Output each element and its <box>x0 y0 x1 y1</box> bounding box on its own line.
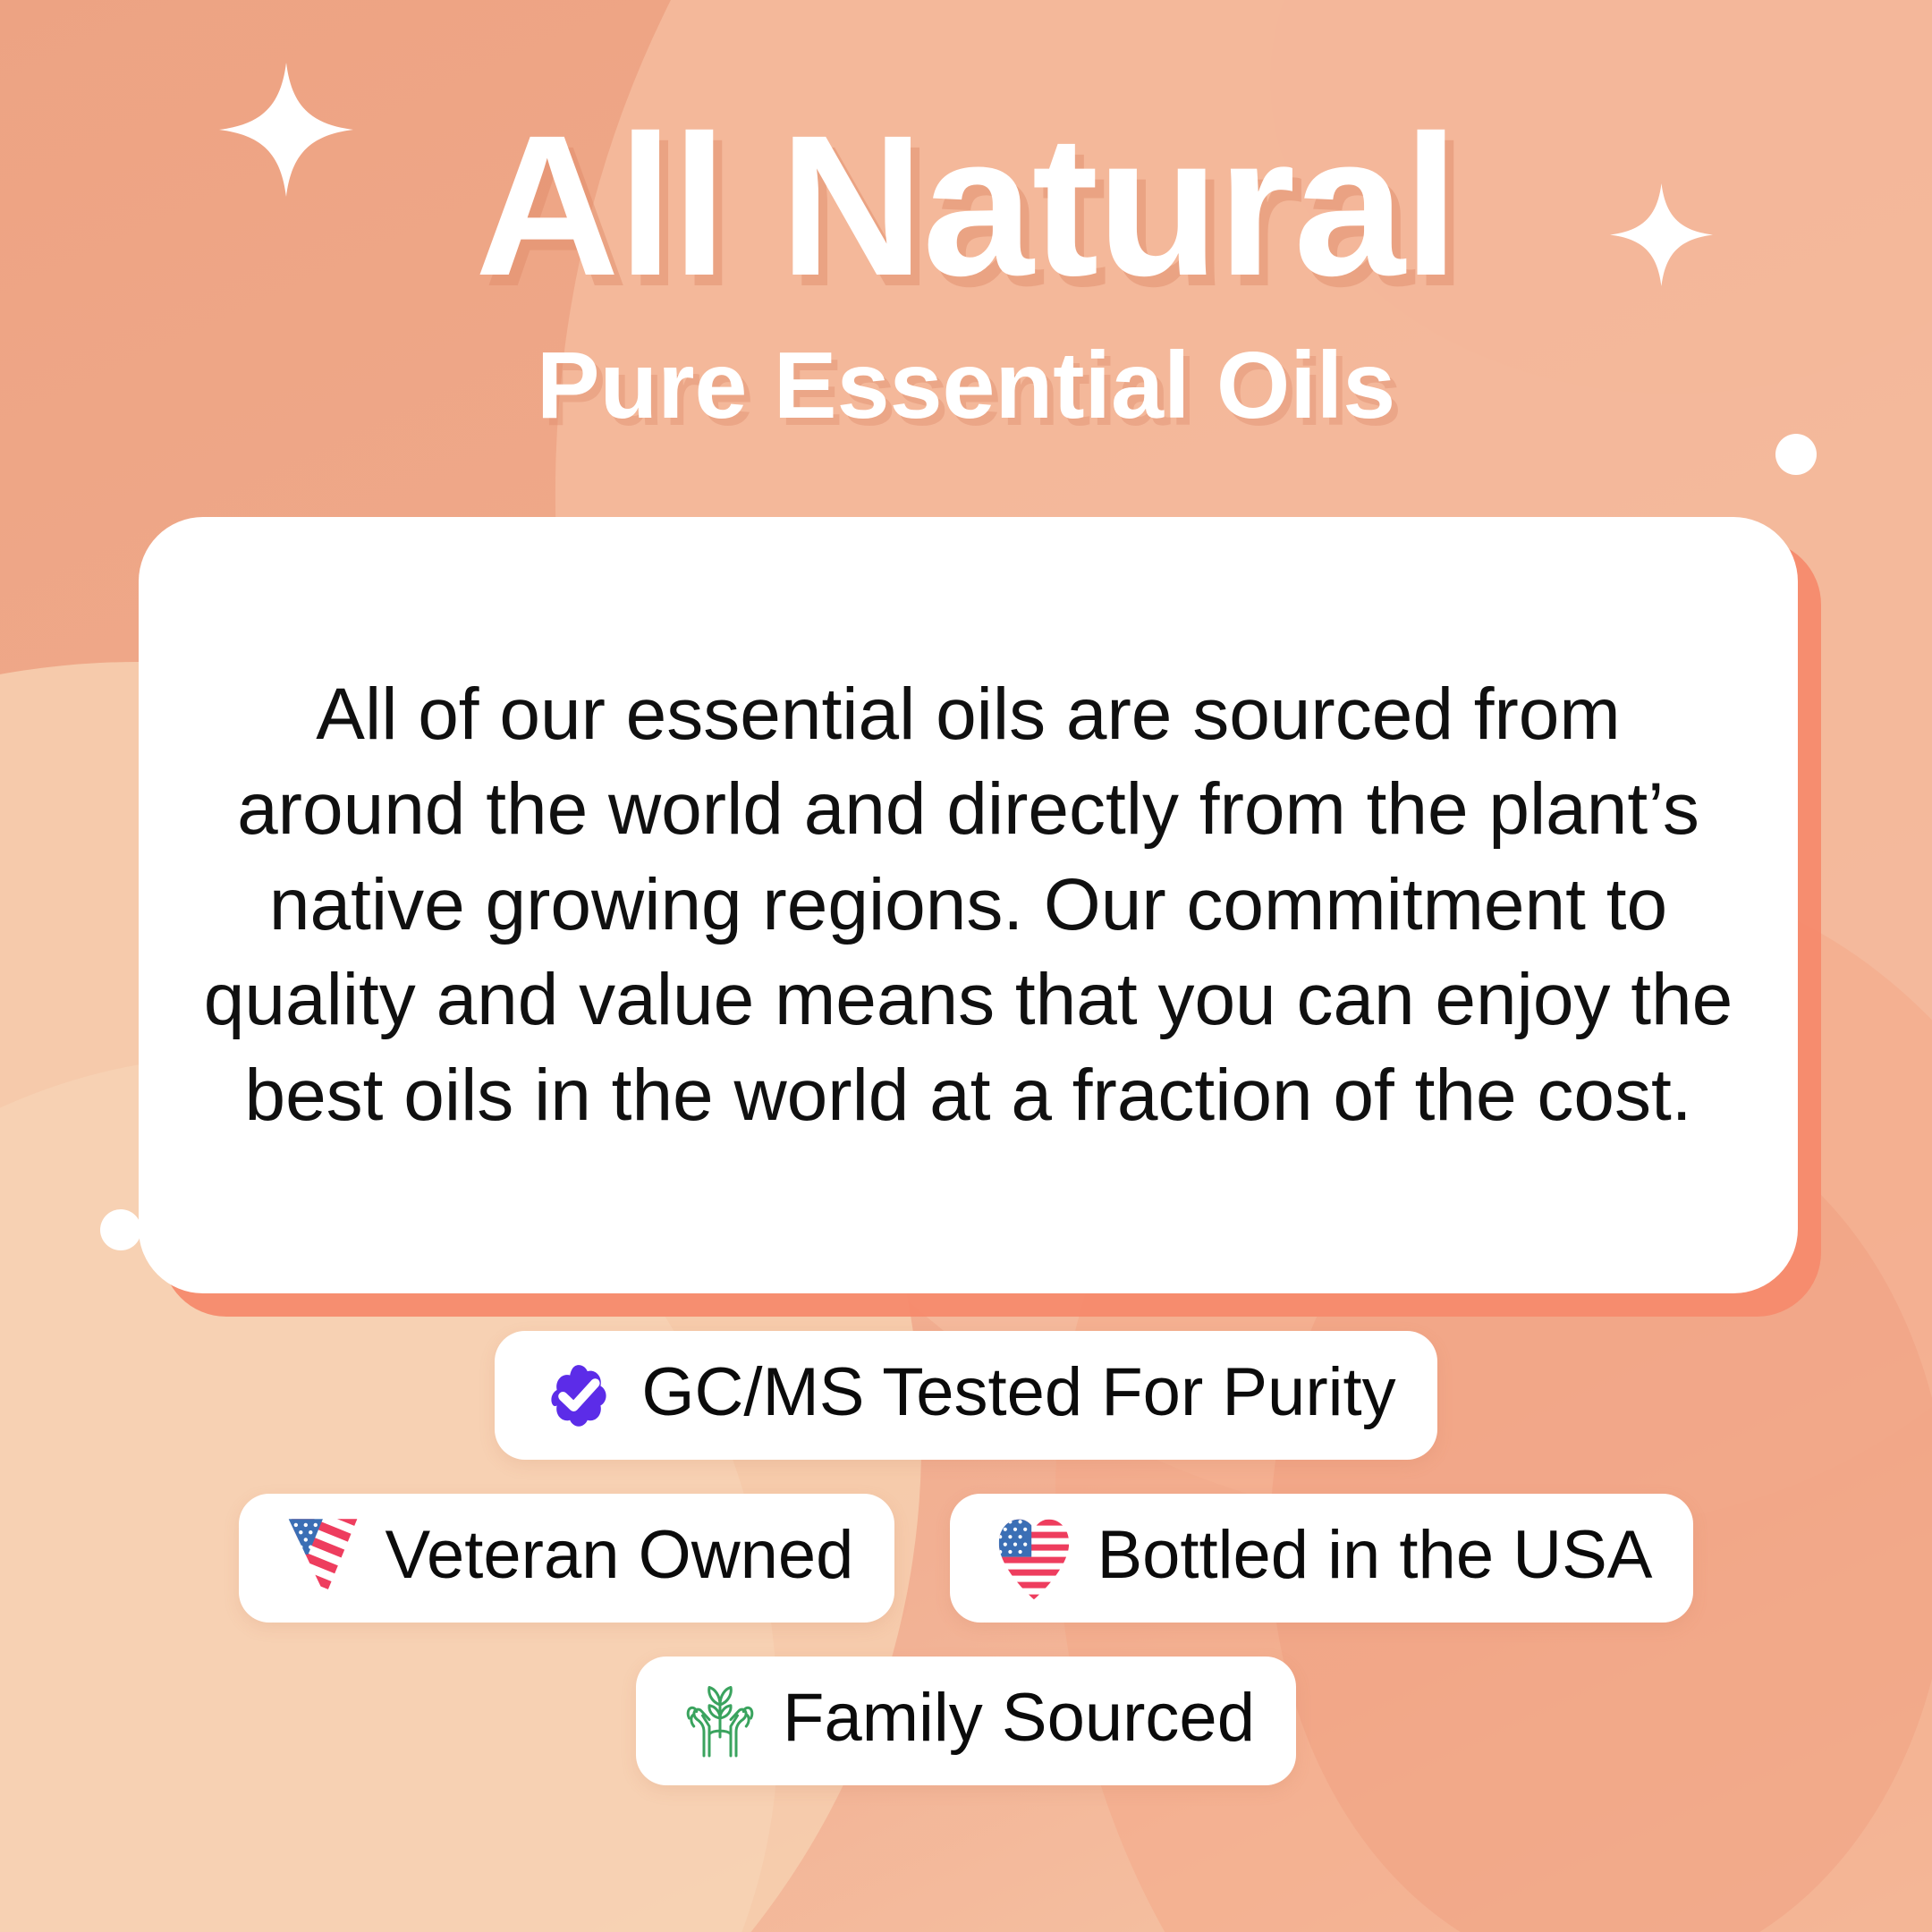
usa-flag-heart-icon <box>991 1515 1077 1601</box>
description-card-wrapper: All of our essential oils are sourced fr… <box>139 517 1798 1293</box>
badge-label: Family Sourced <box>783 1684 1255 1758</box>
badge-label: Bottled in the USA <box>1097 1521 1652 1595</box>
badge-gcms-tested[interactable]: GC/MS Tested For Purity <box>495 1331 1436 1460</box>
badge-group: GC/MS Tested For Purity <box>0 1331 1932 1785</box>
badge-veteran-owned[interactable]: Veteran Owned <box>239 1494 895 1623</box>
badge-label: Veteran Owned <box>386 1521 854 1595</box>
badge-family-sourced[interactable]: Family Sourced <box>636 1657 1296 1785</box>
decorative-dot-top-right <box>1775 434 1817 475</box>
badge-bottled-in-usa[interactable]: Bottled in the USA <box>950 1494 1693 1623</box>
header: All Natural Pure Essential Oils <box>0 0 1932 433</box>
page-title: All Natural <box>0 0 1932 306</box>
badge-row-2: Veteran Owned <box>0 1494 1932 1623</box>
verified-check-badge-icon <box>536 1352 622 1438</box>
badge-row-1: GC/MS Tested For Purity <box>0 1331 1932 1460</box>
decorative-dot-left-lower <box>100 1209 141 1250</box>
badge-row-3: Family Sourced <box>0 1657 1932 1785</box>
description-text: All of our essential oils are sourced fr… <box>203 667 1733 1144</box>
hands-holding-sprout-icon <box>677 1678 763 1764</box>
page-subtitle: Pure Essential Oils <box>0 306 1932 433</box>
badge-label: GC/MS Tested For Purity <box>641 1359 1395 1432</box>
usa-flag-chevron-icon <box>280 1515 366 1601</box>
description-card: All of our essential oils are sourced fr… <box>139 517 1798 1293</box>
